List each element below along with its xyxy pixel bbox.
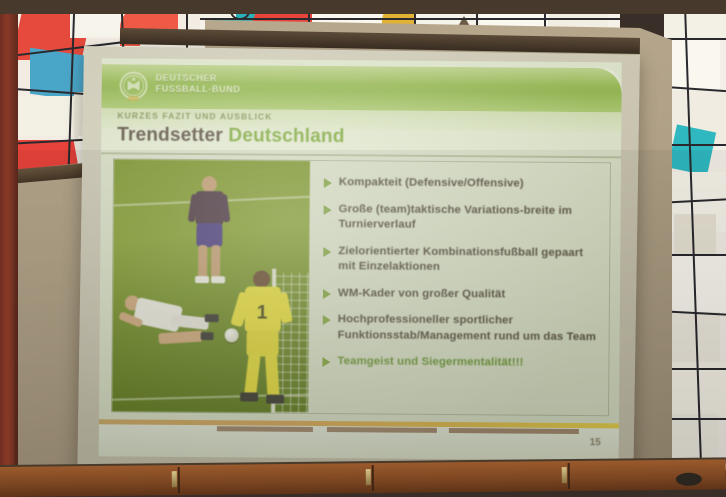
slide-page-number: 15 (590, 437, 601, 448)
window-frame-left (0, 0, 18, 497)
slide-content-frame: 1 Komp (111, 158, 611, 416)
bullet-item: Große (team)taktische Variations-breite … (323, 202, 599, 235)
bullet-text: Große (team)taktische Variations-breite … (338, 202, 599, 235)
bullet-text: Teamgeist und Siegermentalität!!! (337, 354, 523, 371)
player-goalkeeper: 1 (236, 270, 293, 406)
dfb-eagle-logo-icon (117, 70, 149, 102)
player-diving-white (118, 287, 225, 370)
triangle-bullet-icon (324, 205, 332, 215)
bullet-item: WM-Kader von großer Qualität (323, 286, 599, 304)
bullet-text: WM-Kader von großer Qualität (338, 286, 505, 303)
triangle-bullet-icon (324, 178, 332, 188)
bullet-text: Kompakteit (Defensive/Offensive) (339, 175, 524, 192)
triangle-bullet-icon (323, 315, 331, 325)
bullet-item: Hochprofessioneller sportlicher Funktion… (323, 312, 599, 345)
title-part-two: Deutschland (228, 125, 344, 147)
triangle-bullet-icon (322, 357, 330, 367)
brand-line-1: DEUTSCHER (156, 73, 241, 85)
wood-panel (0, 459, 726, 497)
slide-title: Trendsetter Deutschland (117, 124, 345, 148)
title-part-one: Trendsetter (117, 124, 223, 146)
brand-org-name: DEUTSCHER FUSSBALL-BUND (156, 73, 241, 96)
brand-line-2: FUSSBALL-BUND (156, 84, 241, 96)
bullet-item: Zielorientierter Kombinationsfußball gep… (323, 244, 599, 277)
stained-glass-window-right (664, 0, 726, 470)
player-defender (187, 176, 232, 288)
presentation-slide: DEUTSCHER FUSSBALL-BUND KURZES FAZIT UND… (99, 58, 622, 460)
triangle-bullet-icon (323, 247, 331, 257)
wood-panel-knob (676, 473, 702, 486)
slide-kicker: KURZES FAZIT UND AUSBLICK (117, 110, 272, 121)
footer-segment (217, 426, 313, 432)
bullet-text: Zielorientierter Kombinationsfußball gep… (338, 244, 599, 277)
window-frame-top (0, 0, 726, 14)
bullet-item: Kompakteit (Defensive/Offensive) (324, 175, 600, 193)
goalkeeper-number: 1 (257, 303, 268, 325)
footer-segment (327, 427, 437, 433)
bullet-item: Teamgeist und Siegermentalität!!! (322, 354, 598, 372)
match-photo: 1 (112, 159, 310, 413)
projection-screen: DEUTSCHER FUSSBALL-BUND KURZES FAZIT UND… (77, 46, 640, 479)
triangle-bullet-icon (323, 289, 331, 299)
bullet-list: Kompakteit (Defensive/Offensive) Große (… (308, 161, 610, 415)
bullet-text: Hochprofessioneller sportlicher Funktion… (338, 312, 599, 345)
room-scene: DEUTSCHER FUSSBALL-BUND KURZES FAZIT UND… (0, 0, 726, 497)
title-divider (101, 152, 621, 158)
footer-segment (449, 428, 579, 434)
